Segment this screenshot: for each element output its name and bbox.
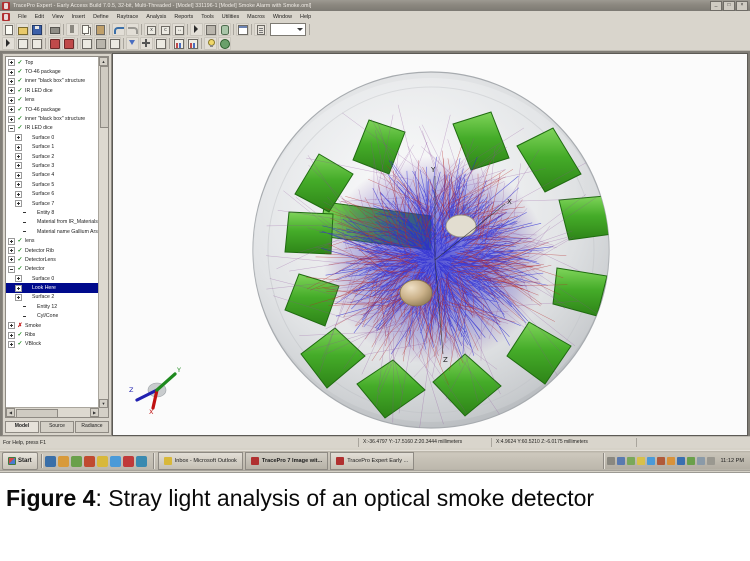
paste-icon [96,25,105,35]
scrollbar-corner [99,408,108,417]
tree-expander-icon[interactable] [8,69,15,76]
figure-caption-prefix: Figure 4 [6,485,95,511]
rotate-icon[interactable] [218,23,231,36]
center-target-icon [142,39,150,47]
candela-plot-icon [188,39,198,49]
tree-node[interactable]: Surface 6 [6,189,99,198]
application-icon [2,2,10,10]
taskbar-separator [153,453,154,469]
tree-node-label: Detector [25,266,45,272]
tree-node[interactable]: Entity 12 [6,302,99,311]
tree-tab-bar: ModelSourceRadiance [3,420,111,435]
view-top-icon [32,39,42,49]
tree-no-check [24,201,30,207]
tree-no-check [24,285,30,291]
tree-node[interactable]: Surface 0 [6,274,99,283]
tree-node-label: Entity 12 [37,304,57,310]
menu-item-raytrace[interactable]: Raytrace [113,14,143,20]
tree-no-check [24,294,30,300]
select-arrow-icon[interactable] [190,23,203,36]
figure-caption-text: : Stray light analysis of an optical smo… [95,485,594,511]
irradiance-map-icon [174,39,184,49]
tree-checked-icon[interactable]: ✓ [17,341,23,347]
cut-icon [70,25,74,33]
tree-checked-icon[interactable]: ✓ [17,107,23,113]
tree-node[interactable]: ✓VBlock [6,340,99,349]
tree-no-check [24,276,30,282]
taskbar-clock[interactable]: 11:12 PM [717,458,747,464]
view-window-icon [238,25,248,35]
tree-checked-icon[interactable]: ✓ [17,78,23,84]
menu-item-utilities[interactable]: Utilities [218,14,243,20]
paste-icon[interactable] [94,23,107,36]
tree-expander-icon[interactable] [15,200,22,207]
scroll-right-arrow-icon[interactable]: ▶ [90,408,99,417]
document-icon [2,13,10,21]
tree-node-label: Surface 2 [32,154,54,160]
wireframe-icon[interactable] [108,37,121,50]
save-file-icon [32,25,42,35]
view-top-icon[interactable] [30,37,43,50]
tree-checked-icon[interactable]: ✓ [17,88,23,94]
tree-horizontal-scrollbar[interactable]: ◀ ▶ [6,407,99,417]
globe-icon[interactable] [218,37,231,50]
tree-no-check [24,144,30,150]
menu-item-window[interactable]: Window [269,14,296,20]
tree-node-label: Surface 5 [32,182,54,188]
tree-expander-icon[interactable] [8,256,15,263]
tray-volume-icon[interactable] [647,457,655,465]
workspace: ✓Top✓TO-46 package✓inner "black box" str… [0,51,750,436]
tree-expander-icon[interactable] [8,116,15,123]
tree-spacer [22,220,27,225]
tracepro-application-window: TracePro Expert - Early Access Build 7.0… [0,0,750,473]
view-front-icon[interactable] [16,37,29,50]
tree-node[interactable]: ✓Detector [6,265,99,274]
model-axis-label-x: X [507,198,512,206]
tree-checked-icon[interactable]: ✓ [17,60,23,66]
tree-expander-icon[interactable] [15,144,22,151]
tree-no-check [29,313,35,319]
shaded-icon[interactable] [94,37,107,50]
raytrace-icon[interactable] [62,37,75,50]
system-tray: 11:12 PM [603,453,750,469]
tree-expander-icon[interactable] [15,172,22,179]
quick-launch-folder-icon[interactable] [58,456,69,467]
tray-audio-icon[interactable] [607,457,615,465]
tree-expander-icon[interactable] [15,181,22,188]
start-button-label: Start [18,458,32,464]
tree-node[interactable]: ✓lens [6,236,99,245]
tree-expander-icon[interactable] [15,275,22,282]
view-window-icon[interactable] [236,23,249,36]
tree-node[interactable]: ✓Ribs [6,330,99,339]
tray-usb-icon[interactable] [657,457,665,465]
zoom-x-icon: x [147,26,156,35]
tree-tab-model[interactable]: Model [5,421,39,433]
tree-expander-icon[interactable] [15,191,22,198]
flux-down-icon[interactable] [126,37,139,50]
open-file-icon [18,27,28,35]
tree-vertical-scrollbar[interactable]: ▲ ▼ [98,57,108,408]
globe-icon [220,39,230,49]
minimize-button[interactable]: _ [710,1,722,11]
pan-icon [206,25,216,35]
zoom-c-icon[interactable]: c [158,23,171,36]
tree-node[interactable]: Material from IR_Materials [6,218,99,227]
tree-expander-icon[interactable] [15,294,22,301]
tree-expander-icon[interactable] [8,238,15,245]
quick-launch-chat-icon[interactable] [110,456,121,467]
model-tree-list[interactable]: ✓Top✓TO-46 package✓inner "black box" str… [6,57,99,408]
source-ray-icon[interactable] [48,37,61,50]
taskbar-button[interactable]: Inbox - Microsoft Outlook [158,452,243,470]
grid-icon[interactable] [154,37,167,50]
copy-icon[interactable] [80,23,93,36]
view-preset-dropdown[interactable] [270,23,306,36]
light-bulb-icon[interactable] [204,37,217,50]
windows-logo-icon [8,457,16,465]
tree-node[interactable]: Surface 4 [6,171,99,180]
tree-tab-radiance[interactable]: Radiance [75,421,109,433]
tree-node[interactable]: Entity 8 [6,208,99,217]
rotate-icon [221,25,229,35]
source-ray-icon [50,39,60,49]
tree-no-check [29,229,35,235]
taskbar-button-label: TracePro 7 Image wit... [262,458,322,464]
toolbar-primary: xc↔ [0,22,750,37]
irradiance-map-icon[interactable] [172,37,185,50]
redo-icon [128,27,138,34]
model-tree-panel: ✓Top✓TO-46 package✓inner "black box" str… [2,53,112,436]
tree-node[interactable]: Cyl/Cone [6,312,99,321]
tree-node[interactable]: ✓IR LED dice [6,124,99,133]
properties-icon[interactable] [254,23,267,36]
tree-checked-icon[interactable]: ✓ [17,116,23,122]
maximize-button[interactable]: □ [723,1,735,11]
window-controls: _ □ × [710,1,748,11]
tree-expander-icon[interactable] [15,153,22,160]
tree-checked-icon[interactable]: ✓ [17,69,23,75]
tree-spacer [22,229,27,234]
windows-taskbar: Start Inbox - Microsoft OutlookTracePro … [0,450,750,471]
tree-expander-icon[interactable] [8,125,15,132]
undo-icon [114,27,124,34]
tree-node-label: Material from IR_Materials [37,219,98,225]
shaded-icon [96,39,106,49]
tree-checked-icon[interactable]: ✓ [17,238,23,244]
taskbar-button-label: TracePro Expert Early ... [347,458,408,464]
tree-expander-icon[interactable] [8,341,15,348]
tree-node-label: Surface 4 [32,172,54,178]
model-tree-scroll-area: ✓Top✓TO-46 package✓inner "black box" str… [5,56,109,418]
taskbar-button[interactable]: TracePro Expert Early ... [330,452,414,470]
tree-node-label: inner "black box" structure [25,116,85,122]
tray-monitor-icon[interactable] [697,457,705,465]
silhouette-icon[interactable] [80,37,93,50]
scroll-left-arrow-icon[interactable]: ◀ [6,408,15,417]
new-file-icon [5,25,13,35]
tree-node[interactable]: Surface 3 [6,161,99,170]
svg-text:X: X [149,408,154,416]
tree-node-label: lens [25,238,35,244]
tree-node-label: IR LED dice [25,125,53,131]
tree-node-label: DetectorLens [25,257,56,263]
cut-icon[interactable] [66,23,79,36]
save-file-icon[interactable] [30,23,43,36]
vertical-scroll-thumb[interactable] [100,66,109,128]
quick-launch-word-icon[interactable] [123,456,134,467]
tray-antivirus-icon[interactable] [687,457,695,465]
select-arrow-icon [194,25,198,33]
status-help-text: For Help, press F1 [0,440,358,446]
tree-no-check [24,172,30,178]
tree-node-label: Surface 2 [32,294,54,300]
tree-node[interactable]: ✓DetectorLens [6,255,99,264]
menu-item-insert[interactable]: Insert [68,14,89,20]
scroll-up-arrow-icon[interactable]: ▲ [99,57,108,66]
taskbar-button-label: Inbox - Microsoft Outlook [175,458,237,464]
tree-node[interactable]: Surface 2 [6,293,99,302]
tree-node[interactable]: ✗Smoke [6,321,99,330]
tree-no-check [29,210,35,216]
tree-node-label: lens [25,97,35,103]
menu-item-analysis[interactable]: Analysis [142,14,170,20]
window-title: TracePro Expert - Early Access Build 7.0… [13,3,710,9]
tree-expander-icon[interactable] [8,106,15,113]
tree-spacer [22,314,27,319]
tree-expander-icon[interactable] [8,87,15,94]
tree-node[interactable]: Material name Gallium Arsenide [6,227,99,236]
tree-node[interactable]: Surface 7 [6,199,99,208]
tree-node[interactable]: Surface 5 [6,180,99,189]
zoom-x-icon[interactable]: x [144,23,157,36]
status-coordinate-2: X:4.9624 Y:60.5210 Z:-6.0175 millimeters [491,438,636,447]
print-icon[interactable] [48,23,61,36]
horizontal-scroll-thumb[interactable] [16,409,58,418]
tree-no-check [29,304,35,310]
quick-launch-desktop-icon[interactable] [136,456,147,467]
tray-clock-icon[interactable] [707,457,715,465]
view-iso-icon [6,39,10,47]
tree-node-label: Detector Rib [25,248,54,254]
silhouette-icon [82,39,92,49]
tree-no-check [24,154,30,160]
scroll-down-arrow-icon[interactable]: ▼ [99,399,108,408]
center-target-icon[interactable] [140,37,153,50]
view-front-icon [18,39,28,49]
tree-node-label: TO-46 package [25,107,61,113]
menu-item-tools[interactable]: Tools [197,14,218,20]
title-bar: TracePro Expert - Early Access Build 7.0… [0,0,750,11]
tree-node[interactable]: ✓Top [6,58,99,67]
tree-node-label: IR LED dice [25,88,53,94]
new-file-icon[interactable] [2,23,15,36]
tree-expander-icon[interactable] [8,266,15,273]
tree-spacer [22,304,27,309]
tree-node[interactable]: Surface 1 [6,143,99,152]
tree-expander-icon[interactable] [8,59,15,66]
redo-icon[interactable] [126,23,139,36]
tree-expander-icon[interactable] [8,78,15,85]
candela-plot-icon[interactable] [186,37,199,50]
tree-spacer [22,210,27,215]
flux-down-icon [129,40,135,45]
toolbar-separator [308,24,312,35]
menu-item-macros[interactable]: Macros [243,14,269,20]
pan-icon[interactable] [204,23,217,36]
tree-node-label: Surface 1 [32,144,54,150]
tree-node[interactable]: ✓inner "black box" structure [6,77,99,86]
tree-checked-icon[interactable]: ✓ [17,125,23,131]
tree-node-label: Ribs [25,332,35,338]
start-button[interactable]: Start [2,452,38,470]
smoke-detector-3d-render: X Y Z Z Y X [113,54,747,435]
tree-node-label: Surface 6 [32,191,54,197]
properties-icon [257,25,265,35]
menu-item-edit[interactable]: Edit [31,14,48,20]
tree-expander-icon[interactable] [15,134,22,141]
model-axis-label-y: Y [430,166,436,174]
tree-no-check [24,191,30,197]
tray-security-icon[interactable] [677,457,685,465]
zoom-c-icon: c [161,26,170,35]
tree-node[interactable]: ✓lens [6,96,99,105]
tree-node[interactable]: Surface 2 [6,152,99,161]
tree-node-label: Surface 0 [32,276,54,282]
tree-node-label: Entity 8 [37,210,54,216]
toolbar-secondary [0,36,750,51]
menu-item-define[interactable]: Define [89,14,113,20]
svg-text:Y: Y [176,366,181,374]
raytrace-icon [64,39,74,49]
tree-expander-icon[interactable] [15,162,22,169]
tree-node[interactable]: ✓TO-46 package [6,67,99,76]
tree-checked-icon[interactable]: ✓ [17,332,23,338]
view-iso-icon[interactable] [2,37,15,50]
tray-update-icon[interactable] [667,457,675,465]
tree-expander-icon[interactable] [8,322,15,329]
tree-checked-icon[interactable]: ✓ [17,248,23,254]
tree-node-label: Look Here [32,285,56,291]
tree-expander-icon[interactable] [8,247,15,254]
taskbar-button-icon [251,457,259,465]
copy-icon [82,25,89,34]
tray-display-icon[interactable] [627,457,635,465]
grid-icon [156,39,166,49]
tree-no-check [24,163,30,169]
figure-caption: Figure 4: Stray light analysis of an opt… [6,484,606,512]
tree-node-label: Smoke [25,323,41,329]
tree-no-check [24,182,30,188]
axis-triad-icon: Z Y X [129,366,181,416]
tree-node-label: inner "black box" structure [25,78,85,84]
zoom-fit-icon[interactable]: ↔ [172,23,185,36]
tree-node[interactable]: Look Here [6,283,99,292]
tree-node-label: Surface 7 [32,201,54,207]
status-coordinate-1: X:-36.4797 Y:-17.5160 Z:20.3444 millimet… [358,438,491,447]
quick-launch-ie-icon[interactable] [45,456,56,467]
status-coordinate-3 [636,438,750,447]
tree-expander-icon[interactable] [8,97,15,104]
menu-item-help[interactable]: Help [296,14,315,20]
svg-text:Z: Z [129,386,134,394]
taskbar-button[interactable]: TracePro 7 Image wit... [245,452,328,470]
tree-unchecked-icon[interactable]: ✗ [17,323,23,329]
tree-node[interactable]: ✓Detector Rib [6,246,99,255]
taskbar-button-icon [336,457,344,465]
tree-node[interactable]: ✓TO-46 package [6,105,99,114]
tree-node[interactable]: Surface 0 [6,133,99,142]
wireframe-icon [110,39,120,49]
menu-item-view[interactable]: View [48,14,68,20]
light-bulb-icon [208,39,215,46]
tray-network-icon[interactable] [617,457,625,465]
status-bar: For Help, press F1 X:-36.4797 Y:-17.5160… [0,436,750,448]
tree-node-label: VBlock [25,341,41,347]
tray-battery-icon[interactable] [637,457,645,465]
tree-node-label: TO-46 package [25,69,61,75]
tree-node-label: Top [25,60,33,66]
tree-node-label: Surface 0 [32,135,54,141]
tree-checked-icon[interactable]: ✓ [17,97,23,103]
tree-tab-source[interactable]: Source [40,421,74,433]
zoom-fit-icon: ↔ [175,26,184,35]
model-axis-label-z: Z [443,356,448,364]
tree-node-label: Surface 3 [32,163,54,169]
tree-expander-icon[interactable] [15,285,22,292]
tree-checked-icon[interactable]: ✓ [17,257,23,263]
menu-item-file[interactable]: File [14,14,31,20]
undo-icon[interactable] [112,23,125,36]
tree-node-label: Cyl/Cone [37,313,58,319]
print-icon [50,27,60,34]
taskbar-button-icon [164,457,172,465]
open-file-icon[interactable] [16,23,29,36]
quick-launch-paint-icon[interactable] [97,456,108,467]
quick-launch-media-icon[interactable] [84,456,95,467]
taskbar-separator [41,454,42,468]
quick-launch-mail-icon[interactable] [71,456,82,467]
tree-expander-icon[interactable] [8,332,15,339]
tree-no-check [29,219,35,225]
tree-checked-icon[interactable]: ✓ [17,266,23,272]
close-button[interactable]: × [736,1,748,11]
tree-node[interactable]: ✓IR LED dice [6,86,99,95]
tree-node-label: Material name Gallium Arsenide [37,229,99,235]
tree-no-check [24,135,30,141]
menu-item-reports[interactable]: Reports [170,14,197,20]
tree-node[interactable]: ✓inner "black box" structure [6,114,99,123]
3d-model-viewport[interactable]: X Y Z Z Y X [112,53,748,436]
